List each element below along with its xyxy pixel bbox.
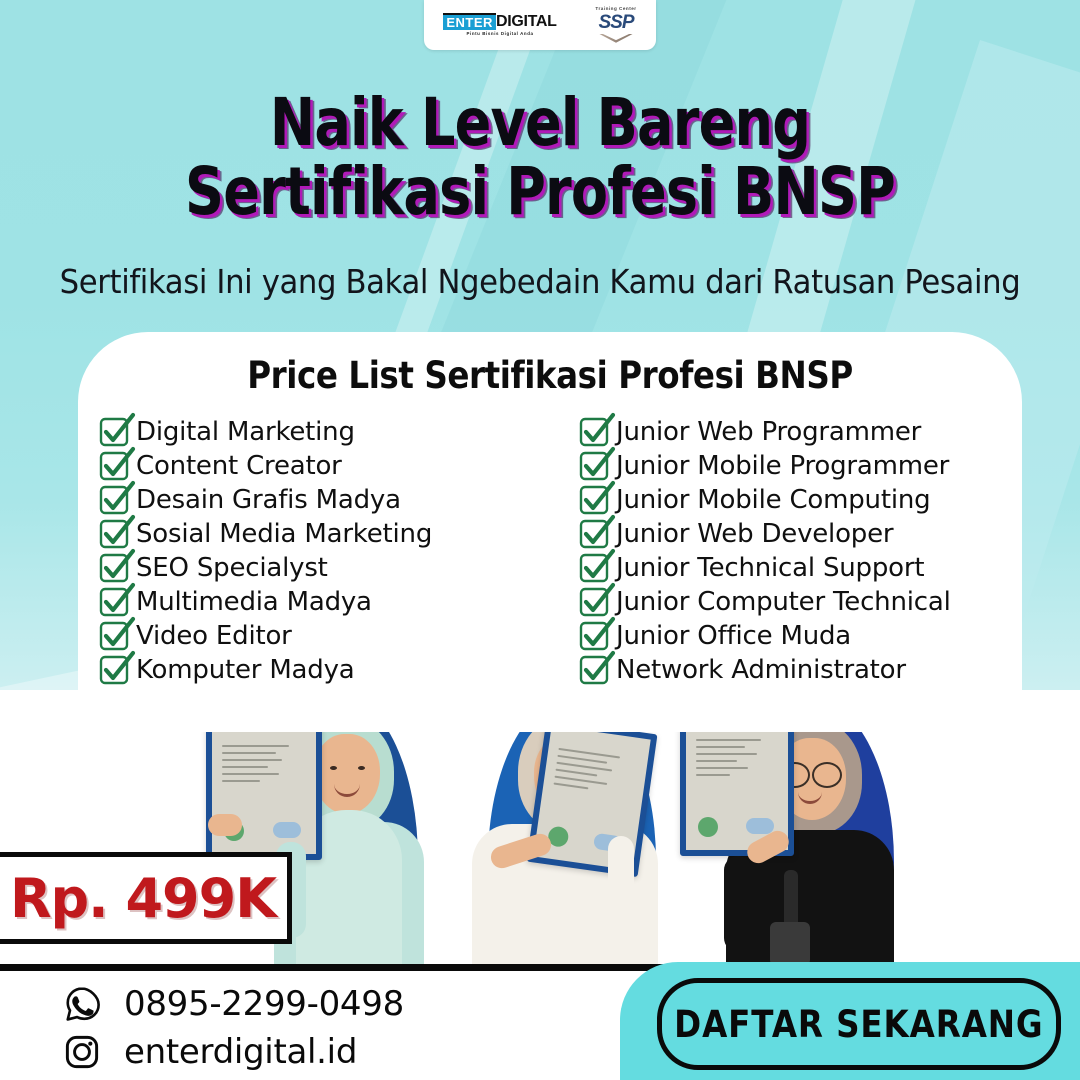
certificate-left — [206, 718, 322, 860]
list-item-label: Digital Marketing — [136, 417, 355, 447]
list-item: Video Editor — [98, 619, 578, 653]
check-icon — [98, 655, 128, 685]
check-icon — [98, 587, 128, 617]
check-icon — [578, 655, 608, 685]
check-icon — [578, 485, 608, 515]
price-text: Rp. 499K — [10, 867, 276, 930]
list-item-label: Junior Web Developer — [616, 519, 893, 549]
service-lists: Digital MarketingContent CreatorDesain G… — [78, 415, 1022, 687]
enter-mark: ENTER — [443, 13, 496, 30]
check-icon — [578, 587, 608, 617]
enter-digital-logo: ENTER DIGITAL Pintu Bisnis Digital Anda — [443, 13, 556, 36]
instagram-handle: enterdigital.id — [124, 1032, 357, 1072]
list-item: Junior Mobile Programmer — [578, 449, 1018, 483]
headline-line-2: Sertifikasi Profesi BNSP — [97, 161, 983, 224]
list-item: Digital Marketing — [98, 415, 578, 449]
list-item: Junior Web Programmer — [578, 415, 1018, 449]
check-icon — [578, 621, 608, 651]
list-item-label: Junior Mobile Programmer — [616, 451, 949, 481]
check-icon — [98, 451, 128, 481]
contact-instagram[interactable]: enterdigital.id — [62, 1028, 404, 1076]
list-item-label: Sosial Media Marketing — [136, 519, 432, 549]
list-item: Multimedia Madya — [98, 585, 578, 619]
list-item-label: Junior Mobile Computing — [616, 485, 930, 515]
cta-panel[interactable]: DAFTAR SEKARANG — [620, 962, 1080, 1080]
check-icon — [98, 417, 128, 447]
ssp-wordmark: SSP — [598, 13, 633, 32]
whatsapp-icon — [62, 985, 102, 1023]
list-item-label: SEO Specialyst — [136, 553, 328, 583]
register-button[interactable]: DAFTAR SEKARANG — [657, 978, 1061, 1070]
check-icon — [98, 485, 128, 515]
list-item: Junior Web Developer — [578, 517, 1018, 551]
check-icon — [578, 451, 608, 481]
list-item-label: Junior Technical Support — [616, 553, 924, 583]
digital-word: DIGITAL — [496, 14, 557, 30]
register-button-label: DAFTAR SEKARANG — [674, 1003, 1043, 1046]
price-list-card: Price List Sertifikasi Profesi BNSP Digi… — [78, 332, 1022, 732]
headline-line-1: Naik Level Bareng — [97, 92, 983, 155]
list-item-label: Content Creator — [136, 451, 342, 481]
list-item-label: Multimedia Madya — [136, 587, 372, 617]
list-item: Network Administrator — [578, 653, 1018, 687]
list-item-label: Komputer Madya — [136, 655, 355, 685]
list-item: SEO Specialyst — [98, 551, 578, 585]
check-icon — [578, 417, 608, 447]
list-item: Content Creator — [98, 449, 578, 483]
list-item: Junior Computer Technical — [578, 585, 1018, 619]
whatsapp-number: 0895-2299-0498 — [124, 984, 404, 1024]
list-item-label: Desain Grafis Madya — [136, 485, 401, 515]
list-item-label: Video Editor — [136, 621, 292, 651]
list-item: Komputer Madya — [98, 653, 578, 687]
instagram-icon — [62, 1034, 102, 1070]
service-list-right: Junior Web ProgrammerJunior Mobile Progr… — [578, 415, 1018, 687]
headline: Naik Level Bareng Sertifikasi Profesi BN… — [0, 92, 1080, 223]
check-icon — [98, 553, 128, 583]
list-item-label: Network Administrator — [616, 655, 906, 685]
price-badge: Rp. 499K — [0, 852, 292, 944]
list-item: Junior Technical Support — [578, 551, 1018, 585]
list-item: Junior Mobile Computing — [578, 483, 1018, 517]
check-icon — [98, 519, 128, 549]
ssp-logo: Training Center SSP — [595, 7, 636, 43]
check-icon — [98, 621, 128, 651]
logo-bar: ENTER DIGITAL Pintu Bisnis Digital Anda … — [424, 0, 656, 50]
list-item-label: Junior Web Programmer — [616, 417, 921, 447]
service-list-left: Digital MarketingContent CreatorDesain G… — [98, 415, 578, 687]
enter-tagline: Pintu Bisnis Digital Anda — [466, 32, 533, 36]
contact-whatsapp[interactable]: 0895-2299-0498 — [62, 980, 404, 1028]
list-item: Desain Grafis Madya — [98, 483, 578, 517]
list-item-label: Junior Office Muda — [616, 621, 851, 651]
chevron-down-icon — [599, 34, 633, 43]
person-right — [650, 690, 900, 970]
list-item: Junior Office Muda — [578, 619, 1018, 653]
check-icon — [578, 553, 608, 583]
list-item: Sosial Media Marketing — [98, 517, 578, 551]
poster-root: ENTER DIGITAL Pintu Bisnis Digital Anda … — [0, 0, 1080, 1080]
list-item-label: Junior Computer Technical — [616, 587, 951, 617]
subheadline: Sertifikasi Ini yang Bakal Ngebedain Kam… — [38, 262, 1042, 301]
card-title: Price List Sertifikasi Profesi BNSP — [135, 354, 966, 397]
check-icon — [578, 519, 608, 549]
contact-info: 0895-2299-0498 enterdigital.id — [62, 980, 404, 1076]
